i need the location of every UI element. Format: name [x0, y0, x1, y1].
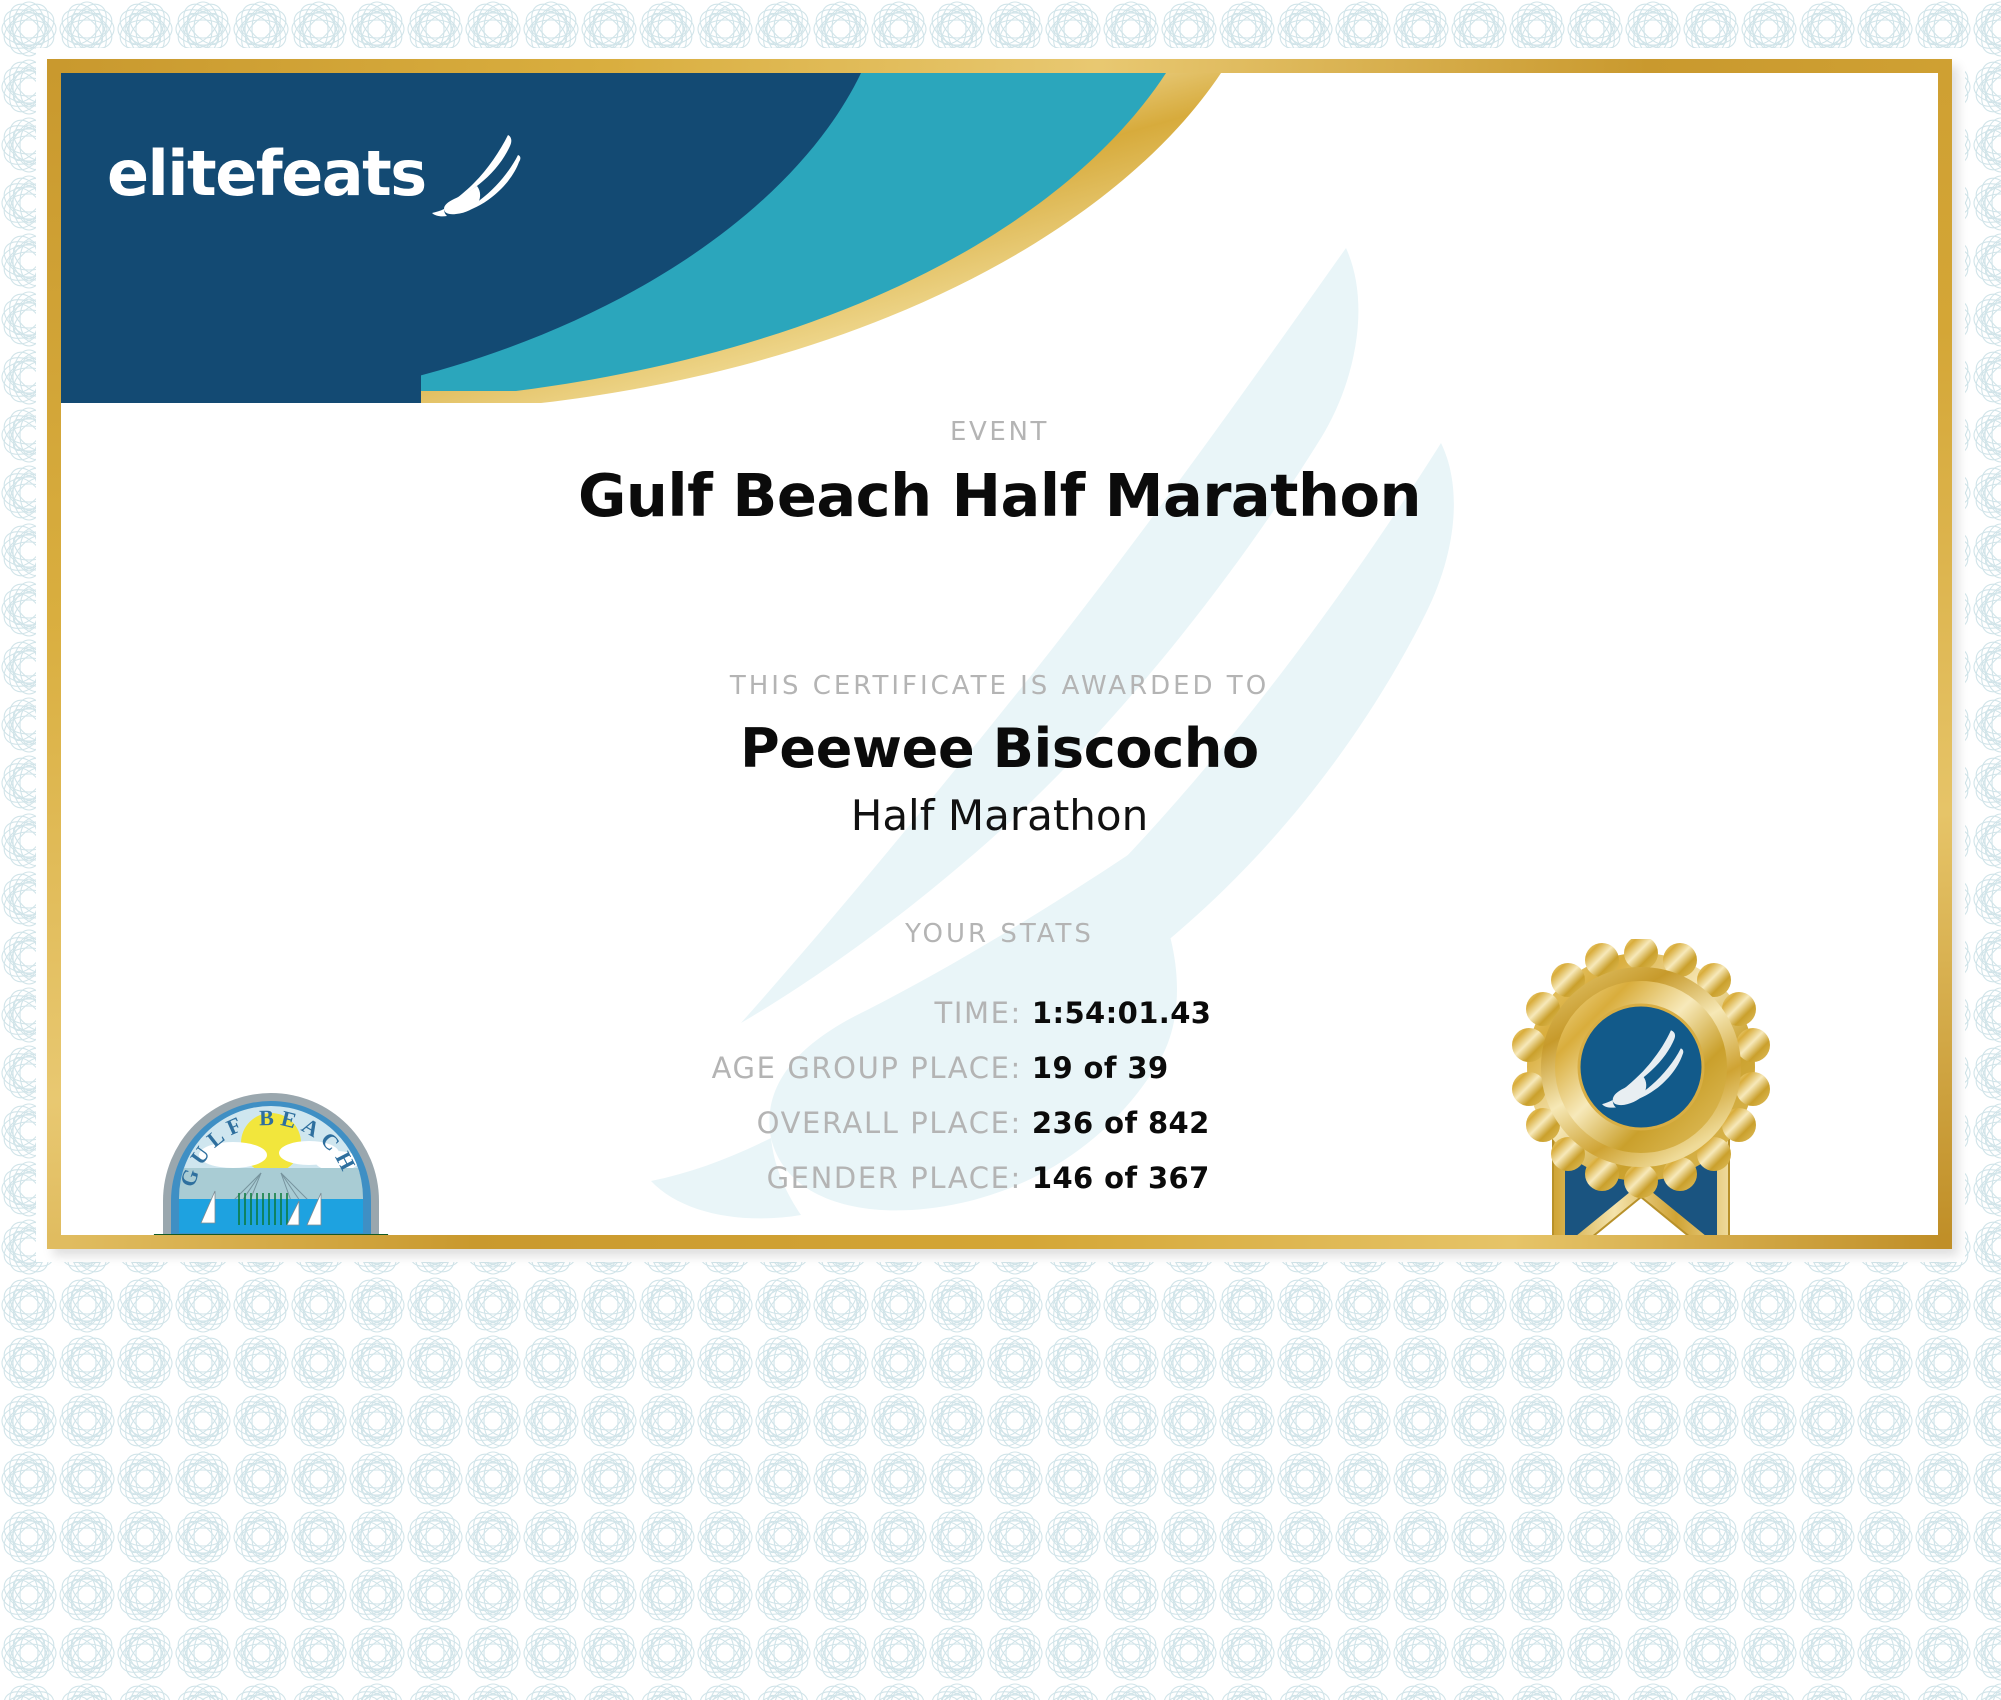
- winged-foot-icon: [430, 131, 522, 217]
- stat-value: 19 of 39: [1032, 1040, 1391, 1095]
- table-row: TIME: 1:54:01.43: [391, 985, 1391, 1040]
- certificate-body: elitefeats EVENT Gulf Beach Half Maratho…: [61, 73, 1938, 1235]
- finisher-seal-icon: 2025: [1491, 939, 1791, 1235]
- table-row: AGE GROUP PLACE: 19 of 39: [391, 1040, 1391, 1095]
- table-row: OVERALL PLACE: 236 of 842: [391, 1095, 1391, 1150]
- stat-value: 1:54:01.43: [1032, 985, 1391, 1040]
- stat-label: OVERALL PLACE:: [391, 1095, 1032, 1150]
- event-name: Gulf Beach Half Marathon: [61, 461, 1938, 530]
- gulf-beach-race-logo: GULF BEACH HALF MARATHON: [141, 1073, 401, 1235]
- stat-label: TIME:: [391, 985, 1032, 1040]
- brand-wordmark: elitefeats: [107, 143, 426, 205]
- stat-label: AGE GROUP PLACE:: [391, 1040, 1032, 1095]
- brand-logo: elitefeats: [107, 131, 522, 217]
- stats-table: TIME: 1:54:01.43 AGE GROUP PLACE: 19 of …: [391, 985, 1391, 1205]
- event-label: EVENT: [61, 417, 1938, 447]
- recipient-name: Peewee Biscocho: [61, 717, 1938, 780]
- stat-value: 236 of 842: [1032, 1095, 1391, 1150]
- stat-label: GENDER PLACE:: [391, 1150, 1032, 1205]
- race-distance: Half Marathon: [61, 791, 1938, 840]
- table-row: GENDER PLACE: 146 of 367: [391, 1150, 1391, 1205]
- awarded-to-label: THIS CERTIFICATE IS AWARDED TO: [61, 671, 1938, 701]
- certificate-page: elitefeats EVENT Gulf Beach Half Maratho…: [0, 0, 2001, 1700]
- stat-value: 146 of 367: [1032, 1150, 1391, 1205]
- header-swoosh-banner: [61, 73, 1938, 403]
- finisher-seal-block: 2025: [1461, 939, 1821, 1235]
